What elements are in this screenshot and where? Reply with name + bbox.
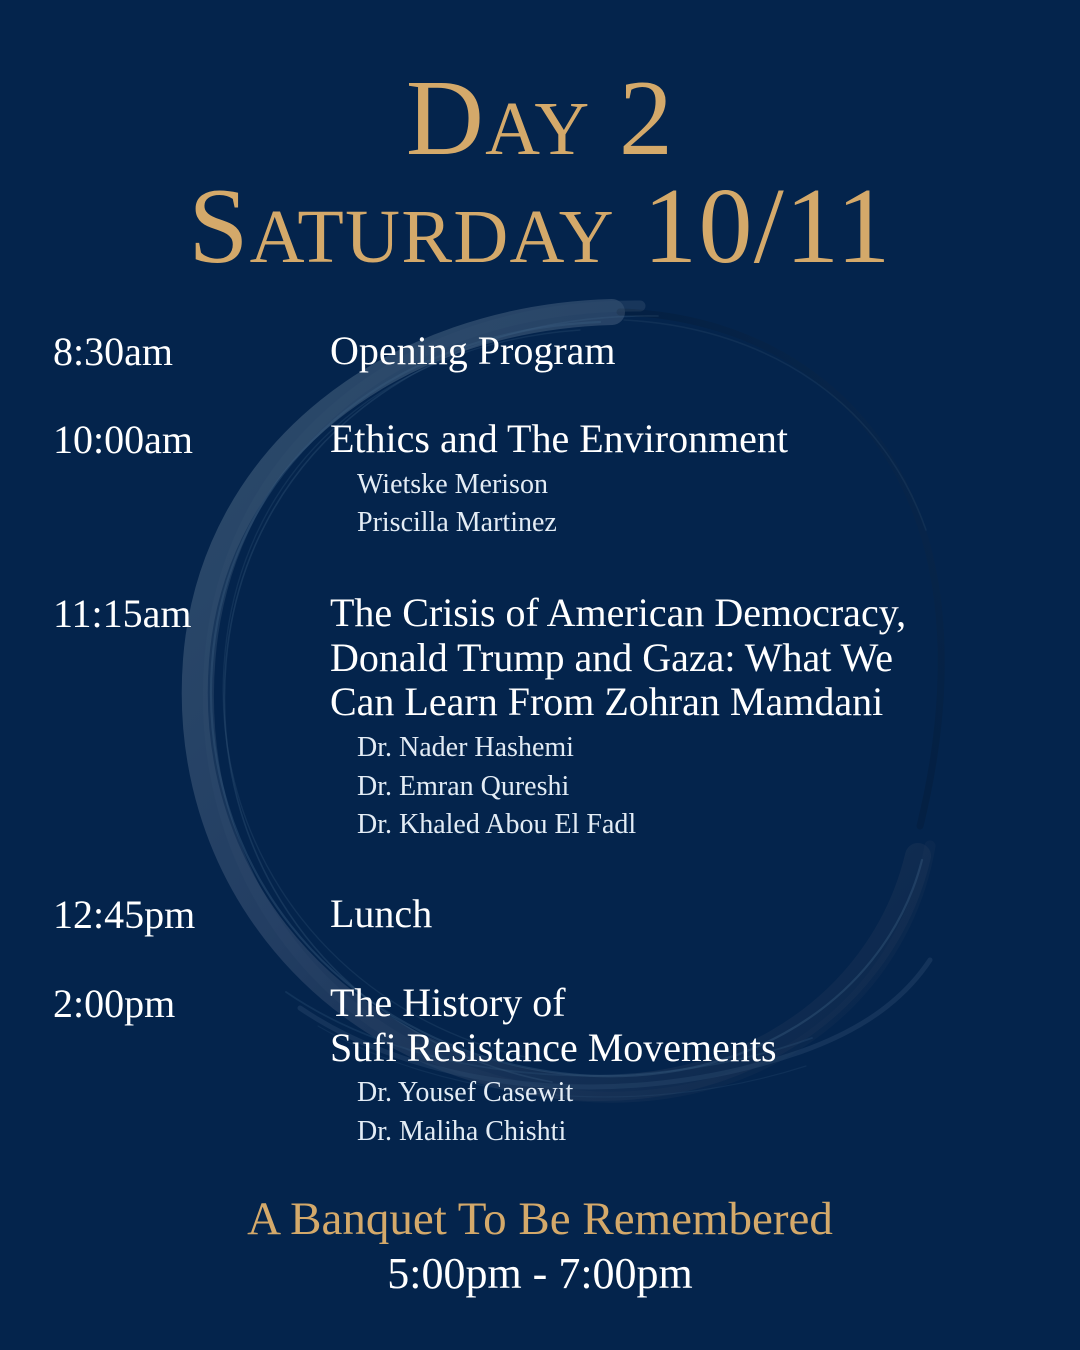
schedule-row: 11:15am The Crisis of American Democracy…: [53, 591, 1050, 844]
schedule-row: 10:00am Ethics and The Environment Wiets…: [53, 417, 1050, 543]
banquet-footer: A Banquet To Be Remembered 5:00pm - 7:00…: [0, 1193, 1080, 1300]
heading-date: Saturday 10/11: [0, 170, 1080, 284]
session-time: 11:15am: [53, 591, 330, 637]
session-title-line: Donald Trump and Gaza: What We: [330, 636, 1050, 681]
session-time: 8:30am: [53, 329, 330, 375]
banquet-time: 5:00pm - 7:00pm: [0, 1248, 1080, 1301]
schedule-row: 2:00pm The History of Sufi Resistance Mo…: [53, 981, 1050, 1151]
session-title-line: Opening Program: [330, 329, 1050, 374]
session-time: 2:00pm: [53, 981, 330, 1027]
schedule-row: 8:30am Opening Program: [53, 329, 1050, 375]
session-details: Lunch: [330, 892, 1050, 937]
session-time: 10:00am: [53, 417, 330, 463]
session-title-line: Lunch: [330, 892, 1050, 937]
speaker-list: Wietske Merison Priscilla Martinez: [330, 466, 1050, 543]
session-details: Opening Program: [330, 329, 1050, 374]
session-title-line: Ethics and The Environment: [330, 417, 1050, 462]
session-title-line: Sufi Resistance Movements: [330, 1026, 1050, 1071]
speaker-name: Dr. Nader Hashemi: [357, 729, 1050, 767]
speaker-name: Wietske Merison: [357, 466, 1050, 504]
session-details: Ethics and The Environment Wietske Meris…: [330, 417, 1050, 543]
session-details: The History of Sufi Resistance Movements…: [330, 981, 1050, 1151]
speaker-name: Dr. Yousef Casewit: [357, 1074, 1050, 1112]
banquet-title: A Banquet To Be Remembered: [0, 1193, 1080, 1246]
schedule-row: 12:45pm Lunch: [53, 892, 1050, 938]
schedule-list: 8:30am Opening Program 10:00am Ethics an…: [0, 329, 1080, 1151]
poster-heading: Day 2 Saturday 10/11: [0, 0, 1080, 285]
speaker-name: Dr. Maliha Chishti: [357, 1113, 1050, 1151]
speaker-list: Dr. Yousef Casewit Dr. Maliha Chishti: [330, 1074, 1050, 1151]
speaker-list: Dr. Nader Hashemi Dr. Emran Qureshi Dr. …: [330, 729, 1050, 844]
session-title-line: The Crisis of American Democracy,: [330, 591, 1050, 636]
session-time: 12:45pm: [53, 892, 330, 938]
event-schedule-poster: Day 2 Saturday 10/11 8:30am Opening Prog…: [0, 0, 1080, 1350]
speaker-name: Dr. Emran Qureshi: [357, 768, 1050, 806]
session-details: The Crisis of American Democracy, Donald…: [330, 591, 1050, 844]
heading-day: Day 2: [0, 62, 1080, 176]
speaker-name: Dr. Khaled Abou El Fadl: [357, 806, 1050, 844]
session-title-line: Can Learn From Zohran Mamdani: [330, 680, 1050, 725]
session-title-line: The History of: [330, 981, 1050, 1026]
speaker-name: Priscilla Martinez: [357, 504, 1050, 542]
